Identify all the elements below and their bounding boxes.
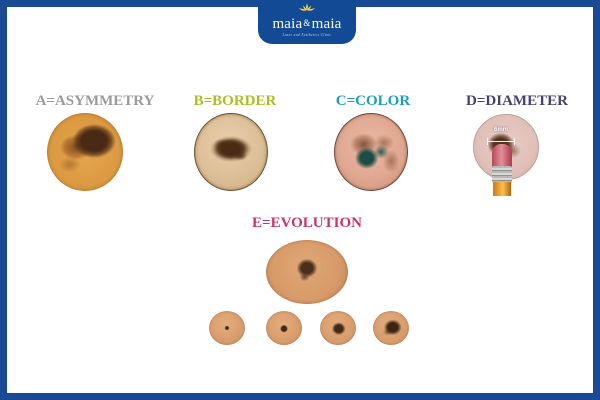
infographic-canvas: maia&maia Laser and Aesthetics Clinic A=… xyxy=(0,0,600,400)
diameter-measurement-text: 6mm xyxy=(486,127,516,133)
criterion-label-diameter: D=DIAMETER xyxy=(447,93,587,110)
pencil-body xyxy=(493,182,511,196)
logo-tagline: Laser and Aesthetics Clinic xyxy=(282,33,331,38)
evolution-stage-4 xyxy=(373,311,409,345)
asymmetry-lesion-photo xyxy=(47,113,123,191)
criterion-label-asymmetry: A=ASYMMETRY xyxy=(15,93,175,110)
pencil-ferrule xyxy=(492,166,512,183)
criterion-label-border: B=BORDER xyxy=(175,93,295,110)
color-lesion-photo xyxy=(334,113,408,191)
logo-wordmark: maia&maia xyxy=(272,16,341,32)
pencil-eraser-reference xyxy=(491,144,513,196)
frame-border-top-right xyxy=(342,0,593,7)
evolution-lesion-photo xyxy=(266,240,348,304)
pencil-eraser-tip xyxy=(492,144,512,168)
evolution-stage-3 xyxy=(320,311,356,345)
logo-word-second: maia xyxy=(312,16,342,32)
evolution-stage-2 xyxy=(266,311,302,345)
frame-border-top-left xyxy=(7,0,258,7)
star-icon xyxy=(295,3,319,15)
logo-word-first: maia xyxy=(272,16,302,32)
logo-banner: maia&maia Laser and Aesthetics Clinic xyxy=(258,0,356,44)
evolution-stage-1 xyxy=(209,311,245,345)
criterion-label-color: C=COLOR xyxy=(313,93,433,110)
criterion-label-evolution: E=EVOLUTION xyxy=(237,215,377,232)
logo-ampersand: & xyxy=(302,18,311,28)
border-lesion-photo xyxy=(194,113,268,191)
